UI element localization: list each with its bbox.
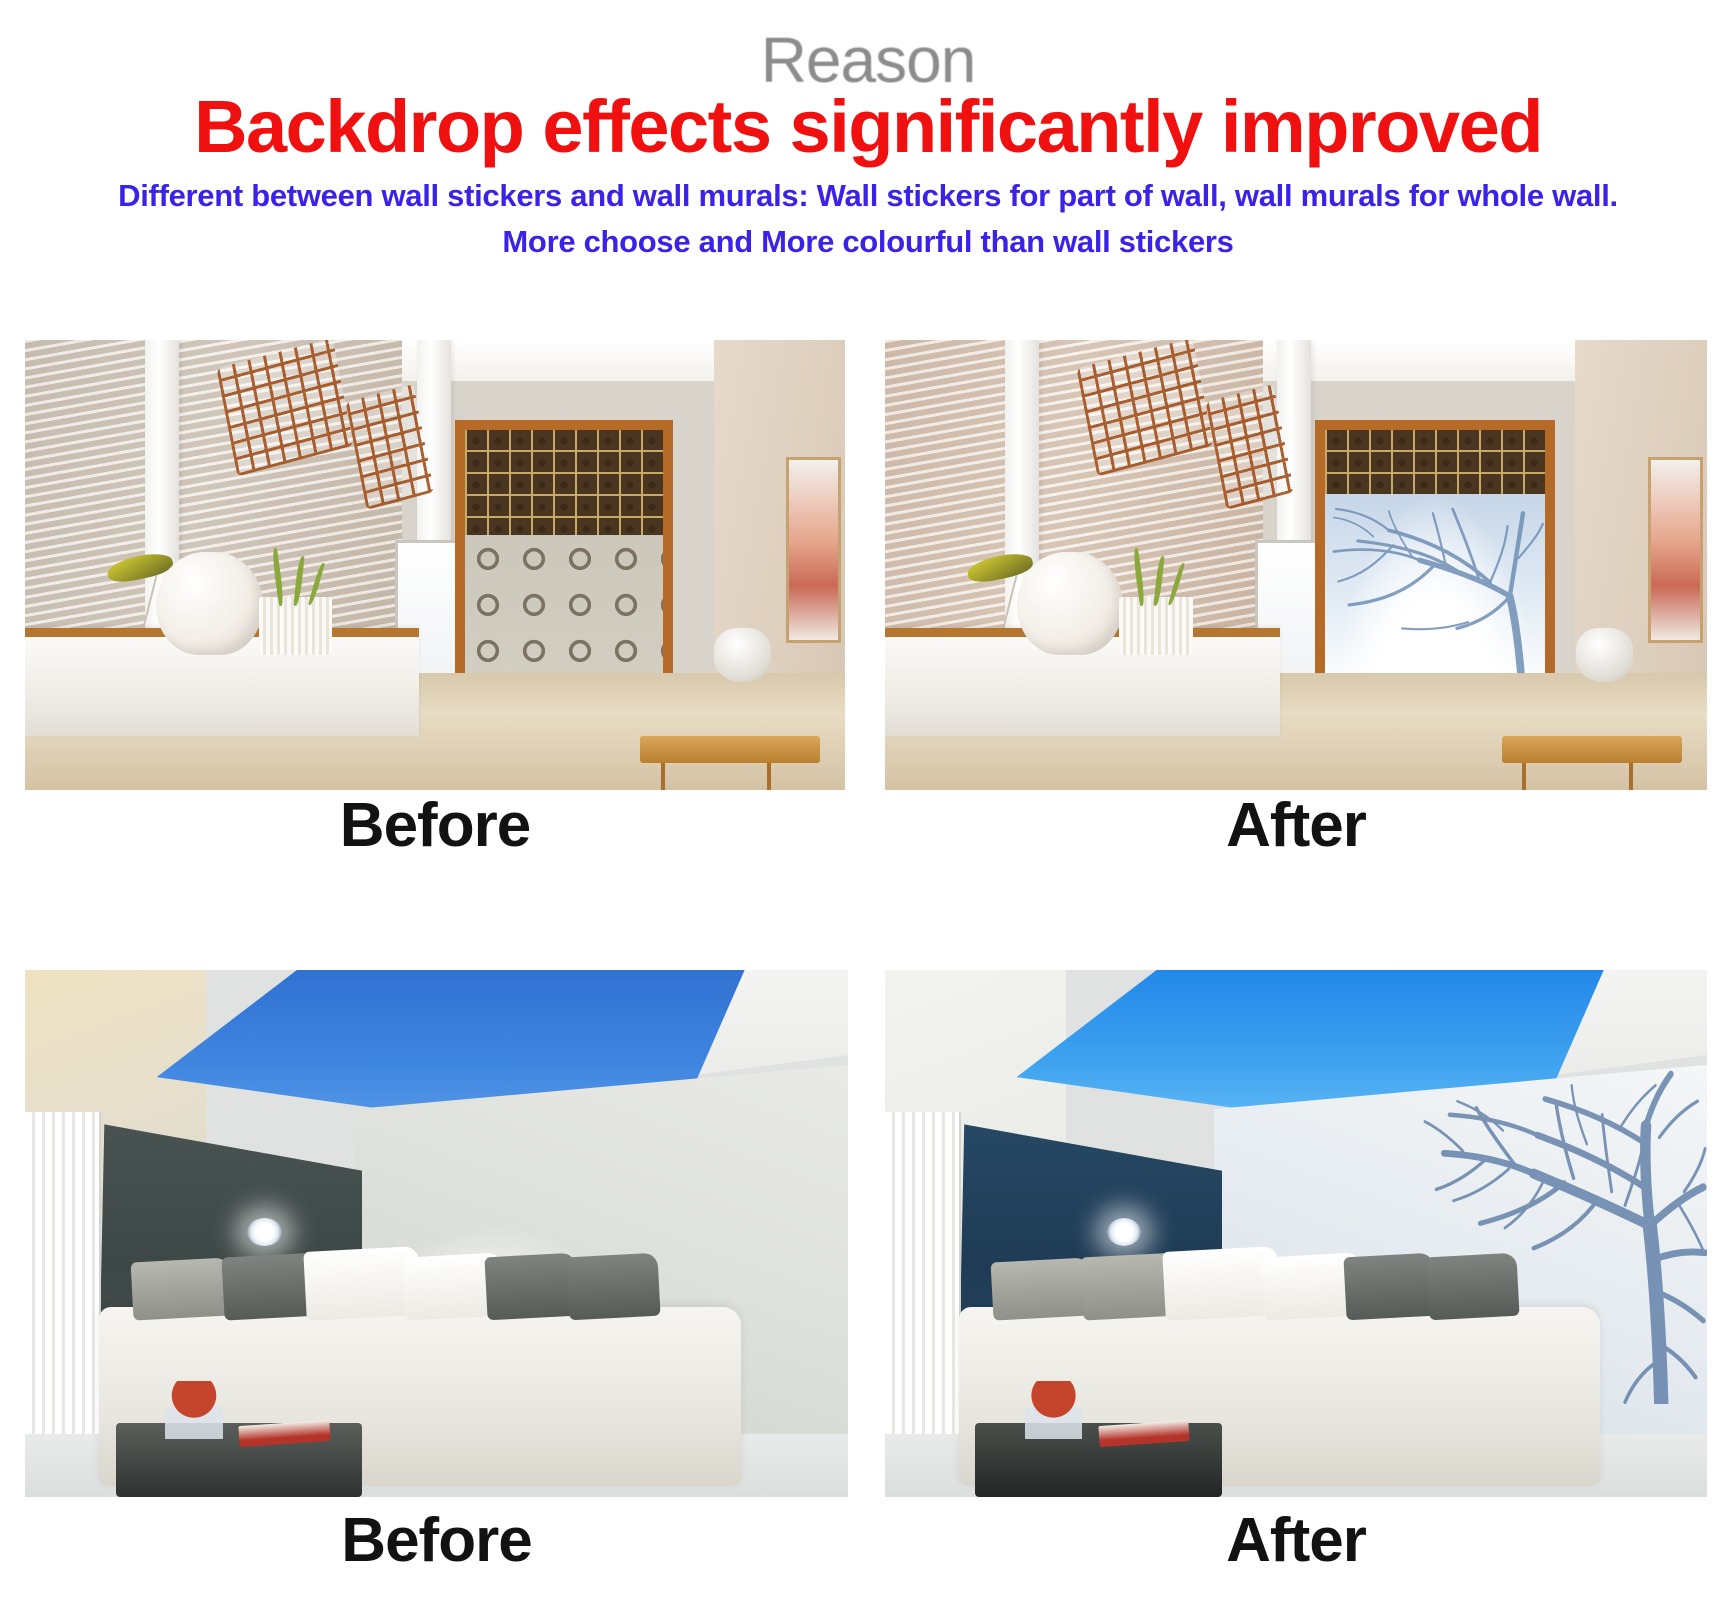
- teapot: [1576, 628, 1634, 682]
- spot-light: [247, 1218, 282, 1246]
- tile-transom: [465, 430, 663, 535]
- caption-hallway-before: Before: [25, 795, 845, 857]
- caption-livingroom-before: Before: [25, 1510, 848, 1572]
- teapot: [714, 628, 771, 682]
- table-leg: [661, 763, 665, 790]
- wall-art: [1648, 457, 1703, 643]
- white-vase: [1017, 552, 1124, 656]
- cushion: [131, 1257, 233, 1320]
- wall-art: [786, 457, 841, 643]
- side-table: [1502, 736, 1683, 763]
- white-vase: [156, 552, 263, 656]
- subtitle-line-1: Different between wall stickers and wall…: [0, 174, 1736, 218]
- tile-transom: [1325, 430, 1545, 494]
- table-leg: [1629, 763, 1633, 790]
- promo-banner: Reason Backdrop effects significantly im…: [0, 0, 1736, 1600]
- radiator: [885, 1112, 961, 1460]
- cushion: [990, 1257, 1092, 1320]
- side-table: [640, 736, 820, 763]
- flower-vase: [165, 1381, 223, 1439]
- cushion: [484, 1252, 578, 1320]
- table-leg: [1522, 763, 1526, 790]
- page-title: Backdrop effects significantly improved: [0, 88, 1736, 166]
- photo-livingroom-before: [25, 970, 848, 1497]
- cushion: [567, 1252, 661, 1320]
- radiator: [25, 1112, 101, 1460]
- table-leg: [767, 763, 771, 790]
- photo-hallway-before: [25, 340, 845, 790]
- eyebrow-title: Reason: [0, 0, 1736, 98]
- caption-livingroom-after: After: [885, 1510, 1707, 1572]
- header: Reason Backdrop effects significantly im…: [0, 0, 1736, 264]
- caption-hallway-after: After: [885, 795, 1707, 857]
- cushion: [1344, 1252, 1438, 1320]
- subtitle-line-2: More choose and More colourful than wall…: [0, 220, 1736, 264]
- flower-vase: [1025, 1381, 1083, 1439]
- photo-livingroom-after: [885, 970, 1707, 1497]
- cushion: [1426, 1252, 1520, 1320]
- photo-hallway-after: [885, 340, 1707, 790]
